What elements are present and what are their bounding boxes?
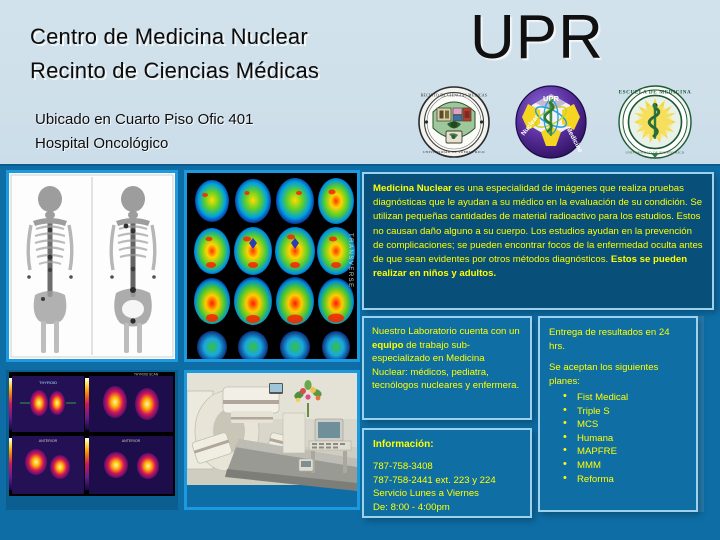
contact-info-panel: Información: 787-758-3408 787-758-2441 e… bbox=[362, 428, 532, 518]
image-grid: TRANSVERSE bbox=[6, 170, 358, 534]
brain-image-overlay-label: TRANSVERSE bbox=[347, 233, 353, 289]
upr-rcm-seal-icon: RECINTO DE CIENCIAS MEDICAS UNIVERSIDAD … bbox=[418, 86, 490, 158]
info-heading: Información: bbox=[373, 437, 521, 453]
upr-nuclear-medicine-logo-icon: UPR Nuclear Medicine bbox=[514, 84, 588, 160]
thyroid-scan-image: THYROID ANTERIOR ANTERIOR THYROID SCA bbox=[6, 370, 178, 510]
title-line-1: Centro de Medicina Nuclear bbox=[30, 20, 319, 54]
subtitle-line-1: Ubicado en Cuarto Piso Ofic 401 bbox=[35, 108, 253, 132]
intro-lead: Medicina Nuclear bbox=[373, 183, 452, 194]
title-line-2: Recinto de Ciencias Médicas bbox=[30, 54, 319, 88]
svg-text:RECINTO DE CIENCIAS MEDICAS: RECINTO DE CIENCIAS MEDICAS bbox=[421, 94, 488, 98]
intro-paragraph: Medicina Nuclear es una especialidad de … bbox=[373, 182, 703, 281]
escuela-de-medicina-seal-icon: ESCUELA DE MEDICINA UNIVERSIDAD DE PUERT… bbox=[618, 85, 692, 159]
svg-text:UNIVERSIDAD DE PUERTO RICO: UNIVERSIDAD DE PUERTO RICO bbox=[423, 150, 485, 154]
list-item: MMM bbox=[563, 459, 687, 473]
list-item: Fist Medical bbox=[563, 391, 687, 405]
subtitle-line-2: Hospital Oncológico bbox=[35, 132, 253, 156]
team-text-before: Nuestro Laboratorio cuenta con un bbox=[372, 326, 520, 337]
gamma-camera-photo bbox=[184, 370, 360, 510]
bone-scan-image bbox=[6, 170, 178, 362]
phone-primary[interactable]: 787-758-3408 bbox=[373, 460, 521, 474]
upr-wordmark: UPR bbox=[470, 2, 604, 73]
svg-text:THYROID: THYROID bbox=[39, 380, 57, 385]
team-bold-word: equipo bbox=[372, 340, 403, 351]
results-delivery-text: Entrega de resultados en 24 hrs. bbox=[549, 326, 687, 354]
plans-spacer bbox=[549, 354, 687, 361]
svg-text:THYROID SCAN: THYROID SCAN bbox=[134, 373, 159, 377]
accepted-plans-list: Fist Medical Triple S MCS Humana MAPFRE … bbox=[549, 391, 687, 486]
team-paragraph: Nuestro Laboratorio cuenta con un equipo… bbox=[372, 325, 522, 393]
logo-row: RECINTO DE CIENCIAS MEDICAS UNIVERSIDAD … bbox=[418, 84, 708, 160]
service-days: Servicio Lunes a Viernes bbox=[373, 487, 521, 501]
brain-spect-image: TRANSVERSE bbox=[184, 170, 360, 362]
accepted-plans-heading: Se aceptan los siguientes planes: bbox=[549, 361, 687, 389]
svg-text:UPR: UPR bbox=[543, 94, 560, 103]
svg-text:ANTERIOR: ANTERIOR bbox=[39, 439, 58, 443]
location-subtitle: Ubicado en Cuarto Piso Ofic 401 Hospital… bbox=[35, 108, 253, 156]
info-spacer bbox=[373, 453, 521, 460]
page-title: Centro de Medicina Nuclear Recinto de Ci… bbox=[30, 20, 319, 88]
intro-body: es una especialidad de imágenes que real… bbox=[373, 183, 703, 265]
service-hours: De: 8:00 - 4:00pm bbox=[373, 501, 521, 515]
poster-root: Centro de Medicina Nuclear Recinto de Ci… bbox=[0, 0, 720, 540]
team-panel: Nuestro Laboratorio cuenta con un equipo… bbox=[362, 316, 532, 420]
poster-header: Centro de Medicina Nuclear Recinto de Ci… bbox=[0, 0, 720, 166]
svg-text:ANTERIOR: ANTERIOR bbox=[122, 439, 141, 443]
list-item: Triple S bbox=[563, 405, 687, 419]
intro-panel: Medicina Nuclear es una especialidad de … bbox=[362, 172, 714, 310]
list-item: Humana bbox=[563, 432, 687, 446]
list-item: MCS bbox=[563, 418, 687, 432]
phone-secondary[interactable]: 787-758-2441 ext. 223 y 224 bbox=[373, 474, 521, 488]
list-item: MAPFRE bbox=[563, 445, 687, 459]
svg-text:ESCUELA DE MEDICINA: ESCUELA DE MEDICINA bbox=[619, 90, 692, 96]
list-item: Reforma bbox=[563, 473, 687, 487]
plans-panel: Entrega de resultados en 24 hrs. Se acep… bbox=[538, 316, 698, 512]
